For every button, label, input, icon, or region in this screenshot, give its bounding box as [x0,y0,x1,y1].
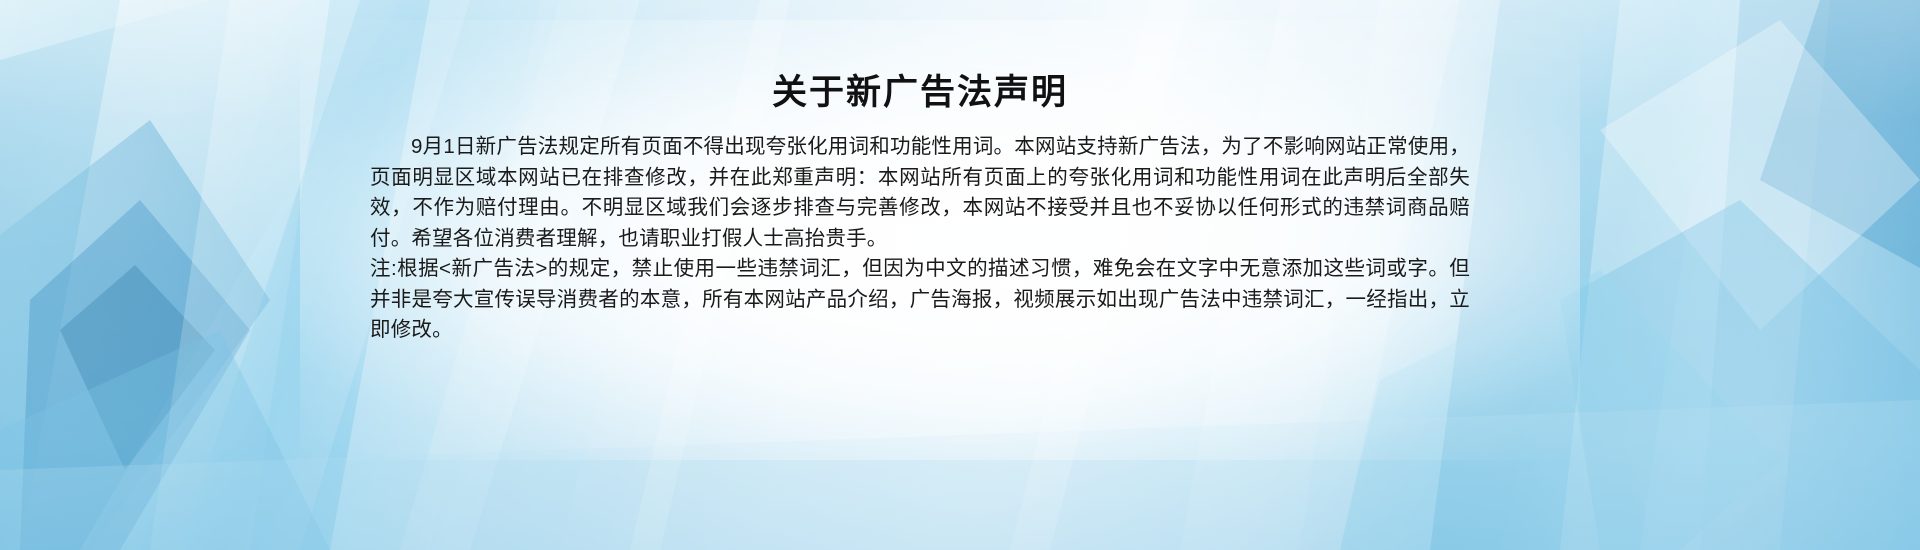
advertising-law-statement-banner: 关于新广告法声明 9月1日新广告法规定所有页面不得出现夸张化用词和功能性用词。本… [0,0,1920,550]
statement-paragraph-1: 9月1日新广告法规定所有页面不得出现夸张化用词和功能性用词。本网站支持新广告法，… [370,132,1470,254]
statement-paragraph-2: 注:根据<新广告法>的规定，禁止使用一些违禁词汇，但因为中文的描述习惯，难免会在… [370,254,1470,346]
statement-content: 关于新广告法声明 9月1日新广告法规定所有页面不得出现夸张化用词和功能性用词。本… [370,70,1470,346]
page-title: 关于新广告法声明 [370,70,1470,116]
